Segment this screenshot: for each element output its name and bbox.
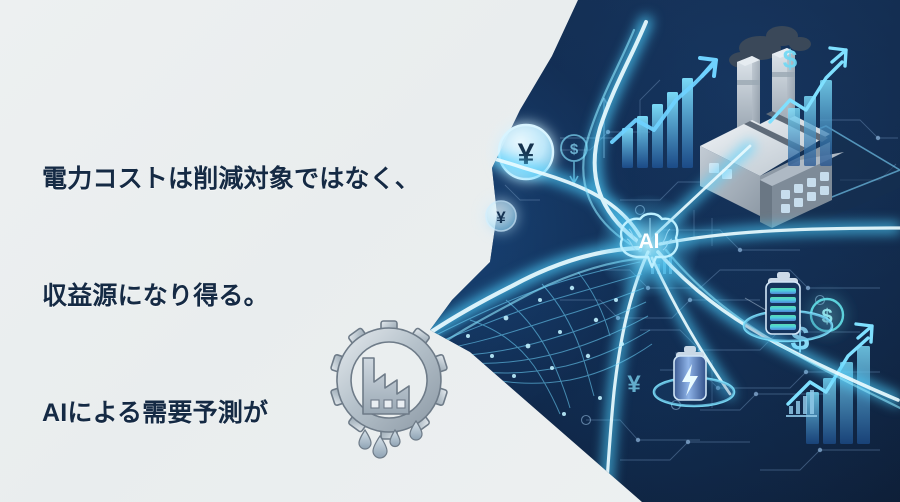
hero-banner: $ $ (0, 0, 900, 502)
headline-line-1: 電力コストは削減対象ではなく、 (42, 160, 512, 199)
headline-line-2: 収益源になり得る。 (42, 277, 512, 316)
gear-icon (330, 321, 447, 439)
factory-gear-emblem (323, 318, 463, 468)
